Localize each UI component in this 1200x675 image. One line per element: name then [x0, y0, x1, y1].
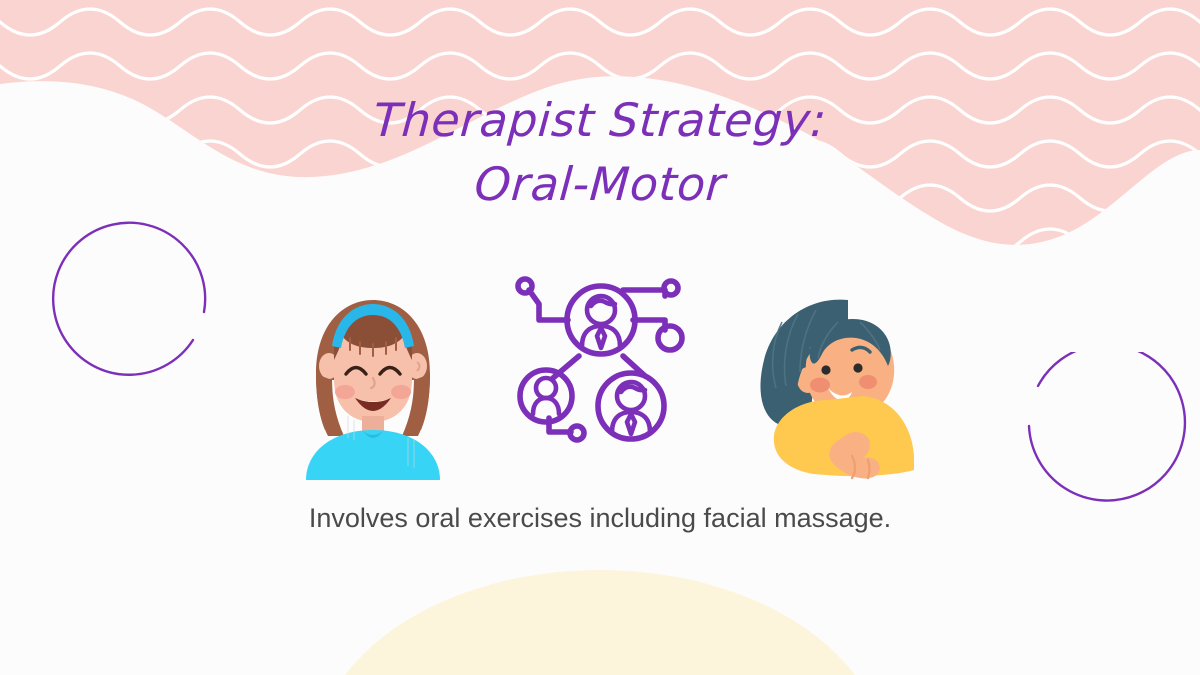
people-network-icon [505, 272, 693, 450]
open-circle-outline-right [1012, 352, 1190, 517]
title-line-2: Oral-Motor [0, 152, 1200, 216]
slide-canvas: Therapist Strategy: Oral-Motor [0, 0, 1200, 675]
page-title: Therapist Strategy: Oral-Motor [0, 88, 1200, 216]
girl-resting-illustration [752, 288, 938, 480]
title-line-1: Therapist Strategy: [0, 88, 1200, 152]
open-circle-outline-left [50, 212, 225, 377]
caption-text: Involves oral exercises including facial… [0, 500, 1200, 536]
girl-laughing-illustration [288, 288, 458, 480]
